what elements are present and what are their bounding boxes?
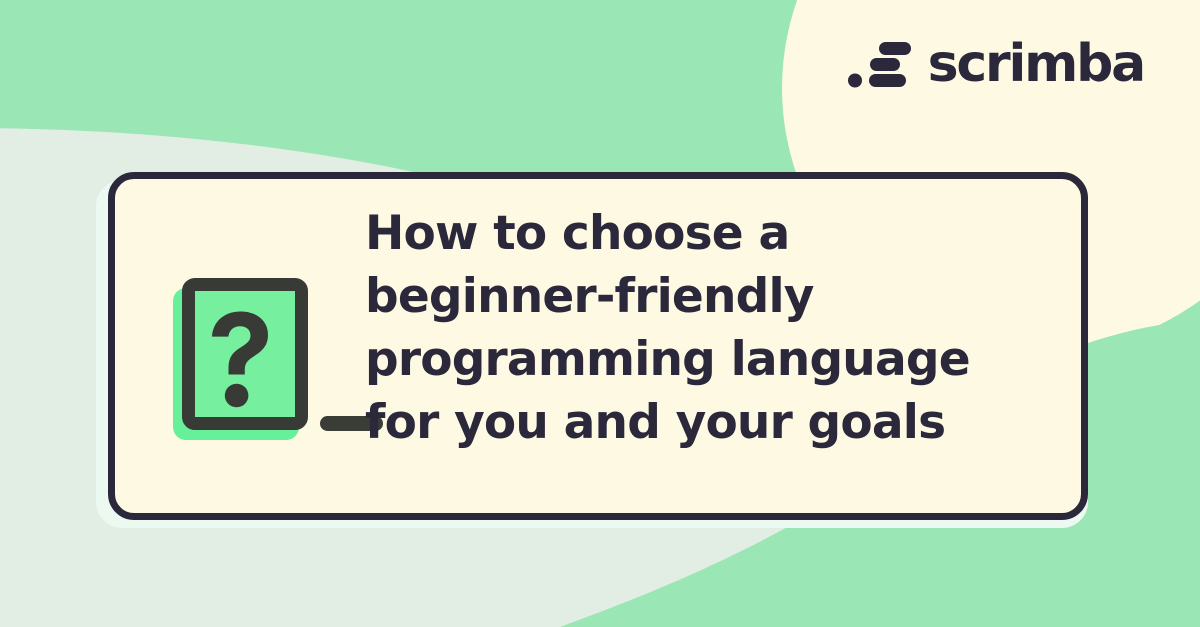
logo-bar-top	[879, 42, 911, 55]
card-icon-area	[115, 179, 365, 513]
logo-dot	[848, 74, 862, 88]
headline-line-4: for you and your goals	[365, 391, 970, 454]
question-mark-glyph-icon	[182, 278, 308, 430]
logo-bar-middle	[870, 58, 900, 71]
headline-line-2: beginner-friendly	[365, 265, 970, 328]
social-card-canvas: scrimba How to choose a beginner-friendl…	[0, 0, 1200, 627]
question-mark-dot	[225, 384, 249, 408]
content-card: How to choose a beginner-friendly progra…	[108, 172, 1088, 520]
brand-logo[interactable]: scrimba	[848, 38, 1144, 90]
scrimba-mark-icon	[848, 40, 912, 88]
headline-line-1: How to choose a	[365, 202, 970, 265]
brand-wordmark: scrimba	[928, 38, 1144, 90]
headline-line-3: programming language	[365, 328, 970, 391]
card-headline: How to choose a beginner-friendly progra…	[365, 202, 1000, 454]
logo-bar-bottom	[869, 74, 906, 87]
